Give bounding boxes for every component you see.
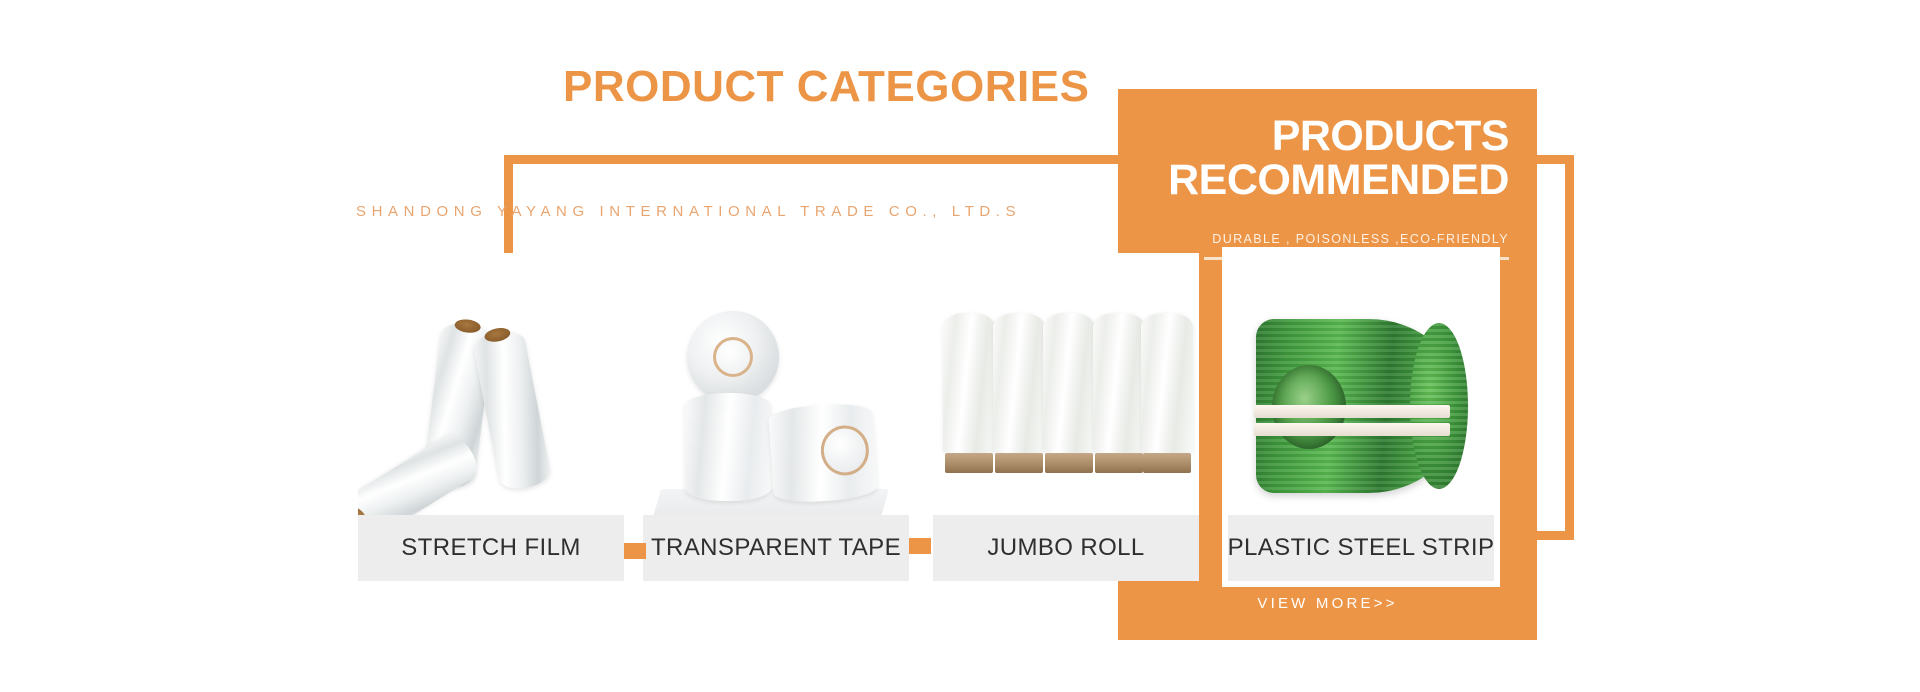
product-card-plastic-steel-strip[interactable]: PLASTIC STEEL STRIP xyxy=(1228,253,1494,581)
green-pet-strap-coil-photo xyxy=(1228,253,1494,515)
jumbo-cylinder-2 xyxy=(993,313,1045,453)
product-card-label: JUMBO ROLL xyxy=(933,515,1199,581)
divider-dash-left xyxy=(1204,257,1226,260)
coil-strap-upper xyxy=(1254,405,1450,418)
promo-title-line2: RECOMMENDED xyxy=(1168,156,1509,204)
jumbo-cylinder-4 xyxy=(1093,313,1145,453)
tape-roll-top xyxy=(687,311,779,403)
film-roll-3 xyxy=(358,429,484,515)
product-card-label: STRETCH FILM xyxy=(358,515,624,581)
coil-strap-lower xyxy=(1254,423,1450,436)
jumbo-cylinder-5 xyxy=(1141,313,1193,453)
card-connector-tab-2 xyxy=(909,538,931,554)
product-card-transparent-tape[interactable]: TRANSPARENT TAPE xyxy=(643,253,909,581)
stretch-film-rolls-photo xyxy=(358,253,624,515)
product-card-label: TRANSPARENT TAPE xyxy=(643,515,909,581)
promo-subtitle: DURABLE , POISONLESS ,ECO-FRIENDLY xyxy=(1149,232,1509,246)
product-categories-banner: PRODUCT CATEGORIES SHANDONG YAYANG INTER… xyxy=(0,0,1920,692)
jumbo-roll-cylinders-photo xyxy=(933,253,1199,515)
product-card-stretch-film[interactable]: STRETCH FILM xyxy=(358,253,624,581)
company-name: SHANDONG YAYANG INTERNATIONAL TRADE CO.,… xyxy=(356,203,1021,220)
view-more-button[interactable]: VIEW MORE>> xyxy=(1118,595,1537,612)
frame-right-outer-bar xyxy=(1565,155,1574,540)
product-card-jumbo-roll[interactable]: JUMBO ROLL xyxy=(933,253,1199,581)
card-connector-tab-1 xyxy=(624,543,646,559)
product-card-label: PLASTIC STEEL STRIP xyxy=(1228,515,1494,581)
transparent-tape-rolls-photo xyxy=(643,253,909,515)
tape-roll-stack xyxy=(685,393,771,501)
page-title: PRODUCT CATEGORIES xyxy=(563,62,1089,112)
promo-title-line1: PRODUCTS xyxy=(1272,112,1509,160)
tape-roll-side xyxy=(768,401,878,504)
jumbo-cylinder-3 xyxy=(1043,313,1095,453)
promo-title: PRODUCTS RECOMMENDED xyxy=(1149,114,1509,203)
jumbo-cylinder-1 xyxy=(943,313,995,453)
